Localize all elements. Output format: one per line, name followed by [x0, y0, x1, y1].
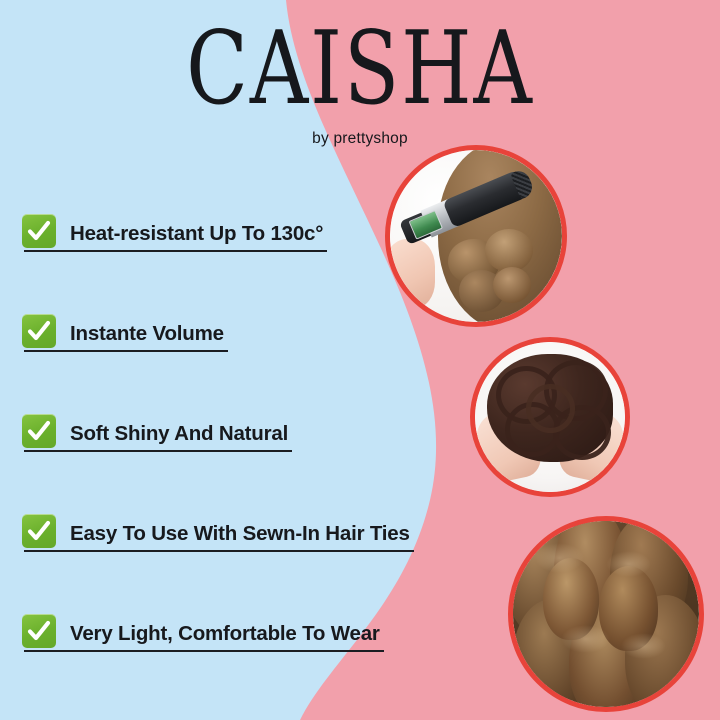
- feature-label: Easy To Use With Sewn-In Hair Ties: [70, 523, 410, 545]
- feature-item: Very Light, Comfortable To Wear: [22, 614, 472, 714]
- infographic-canvas: CAISHA by prettyshop Heat-resistant Up T…: [0, 0, 720, 720]
- feature-label: Very Light, Comfortable To Wear: [70, 623, 380, 645]
- brand-tagline: by prettyshop: [0, 130, 720, 148]
- check-icon: [22, 214, 56, 248]
- feature-item: Easy To Use With Sewn-In Hair Ties: [22, 514, 472, 614]
- check-icon: [22, 514, 56, 548]
- feature-underline: [24, 650, 384, 652]
- feature-underline: [24, 450, 292, 452]
- feature-underline: [24, 350, 228, 352]
- brand-logo: CAISHA by prettyshop: [0, 18, 720, 148]
- feature-label: Instante Volume: [70, 323, 224, 345]
- photo-flat-iron-styling-hair: [385, 145, 567, 327]
- feature-label: Soft Shiny And Natural: [70, 423, 288, 445]
- feature-underline: [24, 250, 327, 252]
- feature-item: Soft Shiny And Natural: [22, 414, 472, 514]
- check-icon: [22, 414, 56, 448]
- check-icon: [22, 614, 56, 648]
- feature-label: Heat-resistant Up To 130c°: [70, 223, 323, 245]
- photo-curls-closeup: [508, 516, 704, 712]
- photo-hands-holding-extensions: [470, 337, 630, 497]
- check-icon: [22, 314, 56, 348]
- feature-item: Instante Volume: [22, 314, 472, 414]
- feature-underline: [24, 550, 414, 552]
- brand-name: CAISHA: [186, 18, 534, 119]
